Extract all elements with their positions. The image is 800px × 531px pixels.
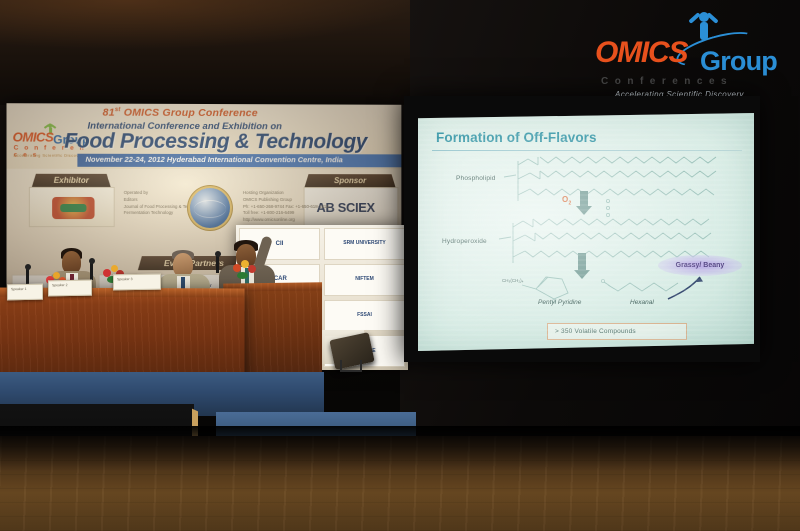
banner-tab-sponsor: Sponsor (305, 174, 396, 187)
person-figure-icon (689, 12, 719, 46)
microphone-right (216, 255, 219, 273)
wall-logo: FSSAI (324, 300, 405, 332)
label-ch3-group: CH₃(CH₂)₄ (502, 278, 523, 283)
monitor-stand (340, 360, 362, 372)
watermark-omics-text: OMICS (595, 36, 687, 70)
conference-photo-scene: OMICS Group Conferences Accelerating Sci… (0, 0, 800, 531)
banner-tab-exhibitor: Exhibitor (32, 174, 111, 187)
banner-main-title: Food Processing & Technology (64, 130, 367, 155)
exhibitor-logo-card (29, 187, 115, 227)
ceiling-light-glow (0, 0, 420, 50)
slide-title-underline (432, 150, 742, 151)
volatile-compounds-callout: > 350 Volatile Compounds (547, 323, 687, 340)
watermark-conferences-text: Conferences (601, 76, 733, 87)
projection-screen: Formation of Off-Flavors (418, 113, 754, 351)
watermark-group-text: Group (700, 46, 777, 77)
screen-projector-glow (418, 113, 754, 351)
head-table (0, 288, 245, 381)
banner-conference-line: 81st OMICS Group Conference (103, 107, 258, 120)
banner-conference-number: 81 (103, 107, 115, 119)
hosting-organization-text: Hosting Organization OMICS Publishing Gr… (243, 190, 329, 224)
exhibitor-logo-icon (52, 197, 94, 219)
floor-shadow-gradient (0, 426, 800, 471)
grassy-beany-text: Grassy/ Beany (676, 262, 725, 269)
name-card-center: Speaker 2 (48, 280, 92, 297)
wall-logo: SRM UNIVERSITY (324, 228, 405, 260)
label-pentyl-pyridine: Pentyl Pyridine (538, 299, 581, 306)
microphone-center (90, 262, 93, 280)
slide-title: Formation of Off-Flavors (436, 130, 597, 145)
omics-group-watermark: OMICS Group Conferences Accelerating Sci… (593, 14, 788, 102)
reaction-arrow-oxidation-icon (580, 191, 588, 207)
banner-logo-omics: OMICS (13, 129, 54, 144)
svg-text:O: O (601, 279, 605, 285)
name-card-right: Speaker 3 (113, 274, 161, 291)
oxygen-subscript: 2 (568, 201, 571, 207)
label-oxygen: O2 (562, 195, 571, 207)
projection-screen-frame: Formation of Off-Flavors (404, 96, 760, 362)
wall-logo: NIFTEM (324, 264, 405, 296)
screen-scanline-overlay (418, 113, 754, 351)
volatile-compounds-text: > 350 Volatile Compounds (555, 328, 636, 335)
banner-conference-text: OMICS Group Conference (124, 107, 258, 119)
label-hydroperoxide: Hydroperoxide (442, 238, 487, 245)
label-hexanal: Hexanal (630, 299, 654, 306)
name-card-left: Speaker 1 (7, 284, 43, 301)
flower-arrangement-right (232, 259, 258, 279)
label-phospholipid: Phospholipid (456, 175, 496, 182)
chemistry-diagram: O O (418, 113, 754, 351)
banner-conference-suffix: st (115, 107, 121, 113)
reaction-arrow-decomposition-icon (578, 253, 586, 271)
banner-date-bar: November 22-24, 2012 Hyderabad Internati… (77, 154, 401, 168)
grassy-beany-highlight: Grassy/ Beany (658, 255, 742, 276)
hosting-org-seal-icon (190, 188, 230, 228)
banner-date-venue: November 22-24, 2012 Hyderabad Internati… (85, 155, 342, 164)
